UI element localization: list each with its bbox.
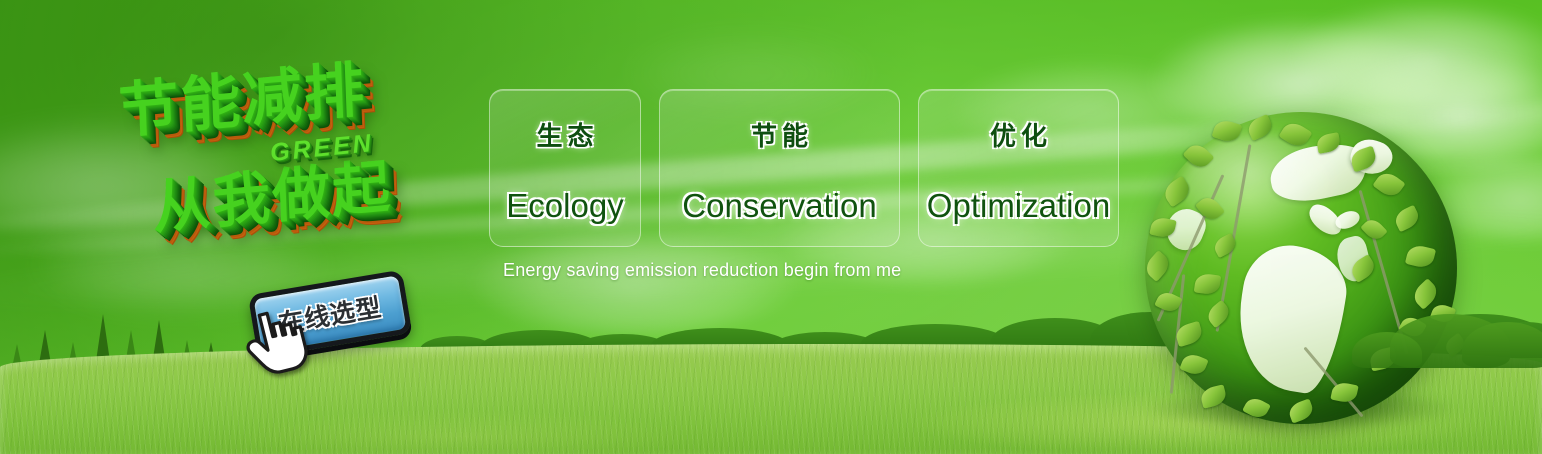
tagline: Energy saving emission reduction begin f… <box>503 260 901 281</box>
pointing-hand-cursor-icon <box>244 306 308 376</box>
green-banner: 节能减排 从我做起 GREEN 在线选型 生态 Ecology 节能 Conse… <box>0 0 1542 454</box>
feature-card-title-zh: 优化 <box>985 116 1052 153</box>
bush-icon <box>1352 332 1422 368</box>
feature-card-optimization[interactable]: 优化 Optimization <box>918 89 1119 247</box>
feature-cards: 生态 Ecology 节能 Conservation 优化 Optimizati… <box>489 89 1119 247</box>
feature-card-title-zh: 生态 <box>531 116 598 153</box>
feature-card-title-en: Conservation <box>682 187 876 225</box>
feature-card-title-en: Optimization <box>927 187 1110 225</box>
feature-card-title-zh: 节能 <box>746 116 813 153</box>
feature-card-conservation[interactable]: 节能 Conservation <box>659 89 900 247</box>
feature-card-title-en: Ecology <box>506 187 623 225</box>
online-selection-cta[interactable]: 在线选型 <box>252 276 412 354</box>
grass-texture <box>0 344 1542 454</box>
feature-card-ecology[interactable]: 生态 Ecology <box>489 89 641 247</box>
